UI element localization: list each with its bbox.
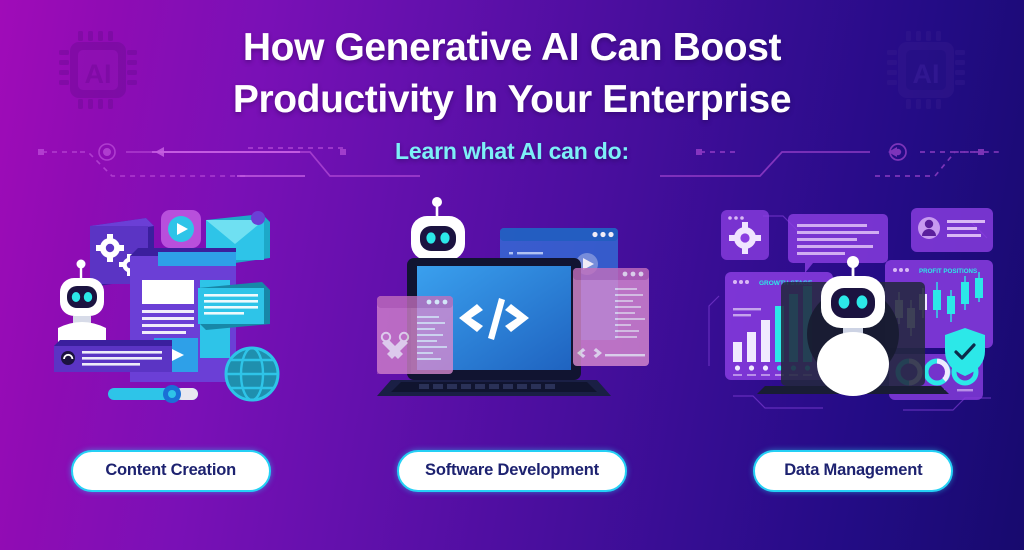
content-creation-illustration [46,196,296,426]
button-wrap-data-management: Data Management [683,450,1024,492]
button-wrap-software-development: Software Development [341,450,682,492]
page-title: How Generative AI Can Boost Productivity… [0,22,1024,126]
category-button-row: Content Creation Software Development Da… [0,450,1024,492]
data-management-button[interactable]: Data Management [753,450,953,492]
header: How Generative AI Can Boost Productivity… [0,22,1024,165]
globe-icon [226,348,278,400]
play-button-tile [161,210,201,248]
panel-content-creation [0,196,341,446]
code-window-pink-right [573,268,649,366]
panel-software-development [341,196,682,446]
code-window-pink-left [377,296,453,374]
page-subtitle: Learn what AI can do: [0,138,1024,165]
profit-positions-label: PROFIT POSITIONS [919,268,977,275]
text-card [198,282,270,330]
profile-card [911,208,993,252]
panel-data-management: GROWTH STAGE [683,196,1024,446]
slider-control [108,385,198,403]
button-wrap-content-creation: Content Creation [0,450,341,492]
chat-card [788,214,888,273]
title-line-1: How Generative AI Can Boost [0,22,1024,74]
content-creation-button[interactable]: Content Creation [71,450,271,492]
data-management-illustration: GROWTH STAGE [703,196,1003,426]
gear-card [721,210,769,260]
software-development-button[interactable]: Software Development [397,450,627,492]
chat-bar [54,340,172,372]
illustration-row: GROWTH STAGE [0,196,1024,446]
title-line-2: Productivity In Your Enterprise [0,74,1024,126]
software-development-illustration [367,196,657,426]
